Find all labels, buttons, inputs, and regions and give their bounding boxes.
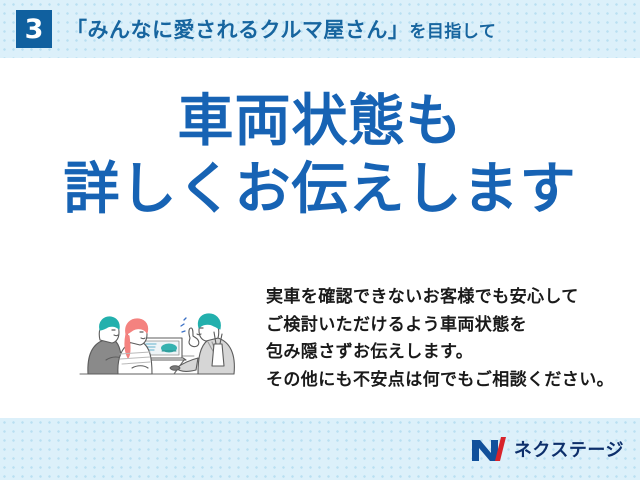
section-title-main: 「みんなに愛されるクルマ屋さん」 [66,14,409,44]
section-title-suffix: を目指して [409,17,496,42]
headline-line-2: 詳しくお伝えします [0,160,640,220]
consultation-illustration-svg [62,282,252,394]
body-text-line-2: ご検討いただけるよう車両状態を [266,312,614,340]
body-text-line-1: 実車を確認できないお客様でも安心して [266,284,614,312]
brand-logo: ネクステージ [471,436,624,462]
promo-slide: 3 「みんなに愛されるクルマ屋さん」 を目指して 車両状態も 詳しくお伝えします [0,0,640,480]
brand-logo-text: ネクステージ [514,436,624,462]
body-text-line-4: その他にも不安点は何でもご相談ください。 [266,367,614,395]
consultation-illustration [62,282,252,394]
headline: 車両状態も 詳しくお伝えします [0,92,640,221]
body-text-block: 実車を確認できないお客様でも安心して ご検討いただけるよう車両状態を 包み隠さず… [266,284,614,394]
section-title: 「みんなに愛されるクルマ屋さん」 を目指して [66,14,496,44]
section-header: 3 「みんなに愛されるクルマ屋さん」 を目指して [16,10,496,48]
nexstage-n-mark-icon [471,436,507,462]
body-text-line-3: 包み隠さずお伝えします。 [266,339,614,367]
section-number-badge: 3 [16,10,52,48]
headline-line-1: 車両状態も [0,92,640,152]
